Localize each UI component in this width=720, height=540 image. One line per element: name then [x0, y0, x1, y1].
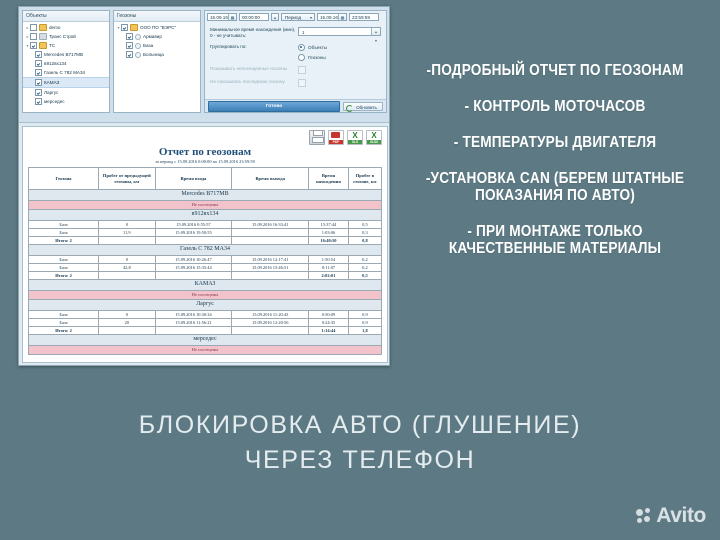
total-cell: [232, 237, 309, 245]
object-tree-item[interactable]: Mercedes B717MB: [23, 50, 109, 59]
total-cell: Итого: 2: [29, 327, 99, 335]
table-cell: База: [29, 264, 99, 272]
min-time-row: Минимальное время нахождения (мин), 0 - …: [210, 27, 381, 39]
total-cell: 2:02:01: [309, 272, 349, 280]
geozone-tree-item[interactable]: ▾ООО ПО "ВЭРС": [114, 23, 200, 32]
table-cell: 15.09.2016 16:33:41: [232, 221, 309, 229]
bottom-caption-line1: БЛОКИРОВКА АВТО (ГЛУШЕНИЕ): [60, 408, 660, 443]
table-cell: 0,9: [348, 311, 381, 319]
checkbox-icon[interactable]: [30, 33, 37, 40]
group-by-radio-label: Объекты: [308, 45, 327, 50]
group-name: в912вх134: [29, 210, 382, 221]
table-cell: 0: [99, 256, 156, 264]
group-total-row: Итого: 216:40:500,8: [29, 237, 382, 245]
time-to-input[interactable]: 23:59:59: [349, 13, 379, 21]
xlsx-icon[interactable]: [366, 130, 382, 145]
folder-icon: [39, 42, 47, 49]
refresh-button-label: Обновить: [356, 105, 377, 110]
table-cell: 15:37:44: [309, 221, 349, 229]
report-title: Отчет по геозонам: [23, 146, 387, 158]
total-cell: 0,8: [348, 237, 381, 245]
date-to-value: 15.09.16: [320, 15, 338, 20]
object-tree-item-label: demo: [49, 25, 61, 30]
date-to-input[interactable]: 15.09.16 ▦: [317, 13, 347, 21]
table-row: База015.09.2016 10:26:4715.09.2016 12:17…: [29, 256, 382, 264]
table-cell: [232, 229, 309, 237]
group-name: КАМАЗ: [29, 280, 382, 291]
settings-panel: 15.09.16 ▦ 00:00:00 ▲ Период 15.09.16 ▦ …: [204, 10, 387, 113]
table-cell: 11,9: [99, 229, 156, 237]
table-column-header: Геозона: [29, 168, 99, 190]
geozones-panel-title: Геозоны: [114, 11, 200, 22]
group-header-row: в912вх134: [29, 210, 382, 221]
group-header-row: КАМАЗ: [29, 280, 382, 291]
object-tree-item[interactable]: ▾ТС: [23, 41, 109, 50]
total-cell: 0,5: [348, 272, 381, 280]
checkbox-icon[interactable]: [126, 42, 133, 49]
table-cell: 0:24:35: [309, 319, 349, 327]
table-cell: База: [29, 256, 99, 264]
checkbox-icon[interactable]: [35, 69, 42, 76]
objects-panel-title: Объекты: [23, 11, 109, 22]
object-tree-item-label: КАМАЗ: [44, 80, 59, 85]
object-tree-item[interactable]: мерседес: [23, 97, 109, 106]
geozone-dot-icon: [135, 52, 141, 58]
table-cell: 1:50:54: [309, 256, 349, 264]
total-cell: [155, 237, 232, 245]
total-cell: [99, 237, 156, 245]
table-cell: 15.09.2016 15:35:44: [155, 264, 232, 272]
table-cell: 15.09.2016 11:20:43: [232, 311, 309, 319]
table-column-header: Время выхода: [232, 168, 309, 190]
group-total-row: Итого: 22:02:010,5: [29, 272, 382, 280]
table-cell: 15.09.2016 15:46:51: [232, 264, 309, 272]
hide-last-row: Не показывать последнюю геозону: [210, 79, 381, 87]
object-tree-item[interactable]: Ларгус: [23, 88, 109, 97]
table-column-header: Пробег в геозоне, км: [348, 168, 381, 190]
geozone-tree-item-label: Больница: [143, 52, 164, 57]
object-tree-item[interactable]: в912вх134: [23, 59, 109, 68]
period-select[interactable]: Период: [281, 13, 315, 21]
object-tree-item-label: Газель С 782 МА34: [44, 70, 85, 75]
min-time-label: Минимальное время нахождения (мин), 0 - …: [210, 27, 298, 39]
table-cell: 15.09.2016 19:50:55: [155, 229, 232, 237]
table-cell: 0: [99, 311, 156, 319]
table-column-header: Пробег от предыдущей геозоны, км: [99, 168, 156, 190]
report-view: Отчет по геозонам за период с 15.09.2016…: [22, 126, 388, 363]
promo-line: - КОНТРОЛЬ МОТОЧАСОВ: [417, 98, 693, 115]
checkbox-icon[interactable]: [35, 79, 42, 86]
total-cell: [99, 327, 156, 335]
table-row: База11,915.09.2016 19:50:551:03:060,3: [29, 229, 382, 237]
table-row: База42,815.09.2016 15:35:4415.09.2016 15…: [29, 264, 382, 272]
pdf-icon[interactable]: [328, 130, 344, 145]
group-by-radio-label: Геозоны: [308, 55, 326, 60]
avito-dots-icon: [636, 508, 652, 524]
geozone-tree-item-label: База: [143, 43, 153, 48]
print-icon[interactable]: [309, 130, 325, 145]
time-from-input[interactable]: 00:00:00: [239, 13, 269, 21]
export-toolbar: [23, 127, 387, 145]
object-tree-item-label: в912вх134: [44, 61, 67, 66]
table-cell: База: [29, 311, 99, 319]
table-cell: 20: [99, 319, 156, 327]
total-cell: [232, 272, 309, 280]
report-subtitle: за период с 15.09.2016 0:00:00 по 15.09.…: [23, 159, 387, 164]
table-cell: 15.09.2016 10:30:34: [155, 311, 232, 319]
table-cell: 0,9: [348, 319, 381, 327]
checkbox-icon[interactable]: [35, 98, 42, 105]
geozone-tree-item-label: ООО ПО "ВЭРС": [140, 25, 176, 30]
checkbox-icon[interactable]: [30, 42, 37, 49]
date-range-bar: 15.09.16 ▦ 00:00:00 ▲ Период 15.09.16 ▦ …: [205, 11, 386, 23]
total-cell: 1,8: [348, 327, 381, 335]
refresh-icon: [346, 105, 353, 112]
object-tree-item[interactable]: Газель С 782 МА34: [23, 68, 109, 77]
group-by-radio[interactable]: Геозоны: [298, 54, 327, 61]
calendar-icon[interactable]: ▦: [228, 14, 236, 20]
folder-icon: [130, 24, 138, 31]
table-cell: База: [29, 319, 99, 327]
radio-icon[interactable]: [298, 44, 305, 51]
folder-icon: [39, 24, 47, 31]
object-tree-item-label: Транс Строй: [49, 34, 76, 39]
geozone-dot-icon: [135, 34, 141, 40]
geozone-tree-item[interactable]: Больница: [114, 50, 200, 59]
show-unvisited-checkbox[interactable]: [298, 66, 306, 74]
no-visit-label: Не посещены: [29, 291, 382, 300]
checkbox-icon[interactable]: [121, 24, 128, 31]
checkbox-icon[interactable]: [35, 60, 42, 67]
geozone-tree-item-label: Армавир: [143, 34, 162, 39]
hide-last-checkbox[interactable]: [298, 79, 306, 87]
bottom-caption-line2: ЧЕРЕЗ ТЕЛЕФОН: [60, 443, 660, 478]
min-time-input[interactable]: 1 ▲▼: [298, 27, 381, 36]
table-row: База015.09.2016 0:55:5715.09.2016 16:33:…: [29, 221, 382, 229]
table-cell: 0:11:07: [309, 264, 349, 272]
group-header-row: мерседес: [29, 335, 382, 346]
geozones-panel: Геозоны ▾ООО ПО "ВЭРС"АрмавирБазаБольниц…: [113, 10, 201, 113]
object-tree-item-label: мерседес: [44, 99, 65, 104]
table-cell: 0: [99, 221, 156, 229]
objects-panel: Объекты ▸demo▸Транс Строй▾ТСMercedes B71…: [22, 10, 110, 113]
no-visit-label: Не посещены: [29, 346, 382, 355]
object-tree-item[interactable]: КАМАЗ: [23, 77, 109, 88]
folder-icon: [39, 33, 47, 40]
hide-last-label: Не показывать последнюю геозону: [210, 79, 298, 85]
group-by-radio-group[interactable]: ОбъектыГеозоны: [298, 44, 327, 61]
total-cell: [99, 272, 156, 280]
no-visit-label: Не посещены: [29, 201, 382, 210]
total-cell: Итого: 2: [29, 272, 99, 280]
promo-line: - ТЕМПЕРАТУРЫ ДВИГАТЕЛЯ: [417, 134, 693, 151]
table-cell: 0:50:09: [309, 311, 349, 319]
total-cell: [232, 327, 309, 335]
table-cell: 1:03:06: [309, 229, 349, 237]
object-tree-item-label: Mercedes B717MB: [44, 52, 83, 57]
group-by-label: Группировать по:: [210, 44, 298, 50]
checkbox-icon[interactable]: [126, 51, 133, 58]
total-cell: [155, 327, 232, 335]
group-header-row: Ларгус: [29, 300, 382, 311]
done-button[interactable]: Готово: [208, 101, 340, 112]
object-tree-item-label: Ларгус: [44, 90, 58, 95]
table-row: База2015.09.2016 11:56:2115.09.2016 12:2…: [29, 319, 382, 327]
object-tree-item-label: ТС: [49, 43, 55, 48]
avito-watermark: Avito: [636, 504, 706, 528]
promo-line: -УСТАНОВКА CAN (БЕРЕМ ШТАТНЫЕ ПОКАЗАНИЯ …: [417, 170, 693, 204]
report-settings-area: Объекты ▸demo▸Транс Строй▾ТСMercedes B71…: [19, 7, 389, 123]
checkbox-icon[interactable]: [35, 51, 42, 58]
geozone-dot-icon: [135, 43, 141, 49]
object-tree-item[interactable]: ▸Транс Строй: [23, 32, 109, 41]
table-body: Mercedes B717MBНе посещеныв912вх134База0…: [29, 190, 382, 355]
min-time-value: 1: [302, 30, 305, 35]
min-time-stepper[interactable]: ▲▼: [371, 28, 380, 35]
checkbox-icon[interactable]: [30, 24, 37, 31]
objects-tree[interactable]: ▸demo▸Транс Строй▾ТСMercedes B717MBв912в…: [23, 22, 109, 106]
table-cell: База: [29, 221, 99, 229]
xls-icon[interactable]: [347, 130, 363, 145]
table-row: База015.09.2016 10:30:3415.09.2016 11:20…: [29, 311, 382, 319]
group-header-row: Газель С 782 МА34: [29, 245, 382, 256]
promo-line: - ПРИ МОНТАЖЕ ТОЛЬКО КАЧЕСТВЕННЫЕ МАТЕРИ…: [417, 223, 693, 257]
table-column-header: Время нахождения: [309, 168, 349, 190]
total-cell: Итого: 2: [29, 237, 99, 245]
show-unvisited-row: Показывать непосещенные геозоны: [210, 66, 381, 74]
group-total-row: Итого: 21:14:441,8: [29, 327, 382, 335]
geozone-tree-item[interactable]: База: [114, 41, 200, 50]
total-cell: 16:40:50: [309, 237, 349, 245]
group-name: мерседес: [29, 335, 382, 346]
group-by-row: Группировать по: ОбъектыГеозоны: [210, 44, 381, 61]
radio-icon[interactable]: [298, 54, 305, 61]
promo-text-block: -ПОДРОБНЫЙ ОТЧЕТ ПО ГЕОЗОНАМ- КОНТРОЛЬ М…: [398, 62, 712, 276]
no-visit-row: Не посещены: [29, 291, 382, 300]
time-from-spinner[interactable]: ▲: [271, 13, 279, 21]
geozone-tree-item[interactable]: Армавир: [114, 32, 200, 41]
table-cell: 15.09.2016 12:20:56: [232, 319, 309, 327]
table-cell: База: [29, 229, 99, 237]
refresh-button[interactable]: Обновить: [343, 102, 383, 111]
options-area: Минимальное время нахождения (мин), 0 - …: [205, 23, 386, 87]
no-visit-row: Не посещены: [29, 201, 382, 210]
promo-line: -ПОДРОБНЫЙ ОТЧЕТ ПО ГЕОЗОНАМ: [417, 62, 693, 79]
avito-label: Avito: [656, 504, 706, 528]
geozones-tree[interactable]: ▾ООО ПО "ВЭРС"АрмавирБазаБольница: [114, 22, 200, 59]
table-column-header: Время входа: [155, 168, 232, 190]
checkbox-icon[interactable]: [35, 89, 42, 96]
no-visit-row: Не посещены: [29, 346, 382, 355]
table-cell: 15.09.2016 12:17:41: [232, 256, 309, 264]
table-cell: 0,3: [348, 229, 381, 237]
table-header-row: ГеозонаПробег от предыдущей геозоны, кмВ…: [29, 168, 382, 190]
settings-button-bar: Готово Обновить: [205, 99, 386, 112]
group-by-radio[interactable]: Объекты: [298, 44, 327, 51]
total-cell: 1:14:44: [309, 327, 349, 335]
date-from-value: 15.09.16: [210, 15, 228, 20]
group-name: Mercedes B717MB: [29, 190, 382, 201]
date-from-input[interactable]: 15.09.16 ▦: [207, 13, 237, 21]
geozone-report-table: ГеозонаПробег от предыдущей геозоны, кмВ…: [28, 167, 382, 355]
bottom-caption: БЛОКИРОВКА АВТО (ГЛУШЕНИЕ) ЧЕРЕЗ ТЕЛЕФОН: [60, 408, 660, 478]
table-cell: 0,2: [348, 264, 381, 272]
table-cell: 0,2: [348, 256, 381, 264]
object-tree-item[interactable]: ▸demo: [23, 23, 109, 32]
group-header-row: Mercedes B717MB: [29, 190, 382, 201]
advertisement-image: Объекты ▸demo▸Транс Строй▾ТСMercedes B71…: [0, 0, 720, 540]
table-cell: 15.09.2016 11:56:21: [155, 319, 232, 327]
table-cell: 15.09.2016 0:55:57: [155, 221, 232, 229]
show-unvisited-label: Показывать непосещенные геозоны: [210, 66, 298, 72]
table-cell: 15.09.2016 10:26:47: [155, 256, 232, 264]
gps-tracking-app-window: Объекты ▸demo▸Транс Строй▾ТСMercedes B71…: [18, 6, 390, 366]
group-name: Ларгус: [29, 300, 382, 311]
calendar-icon[interactable]: ▦: [338, 14, 346, 20]
group-name: Газель С 782 МА34: [29, 245, 382, 256]
total-cell: [155, 272, 232, 280]
checkbox-icon[interactable]: [126, 33, 133, 40]
table-cell: 42,8: [99, 264, 156, 272]
table-cell: 0,5: [348, 221, 381, 229]
